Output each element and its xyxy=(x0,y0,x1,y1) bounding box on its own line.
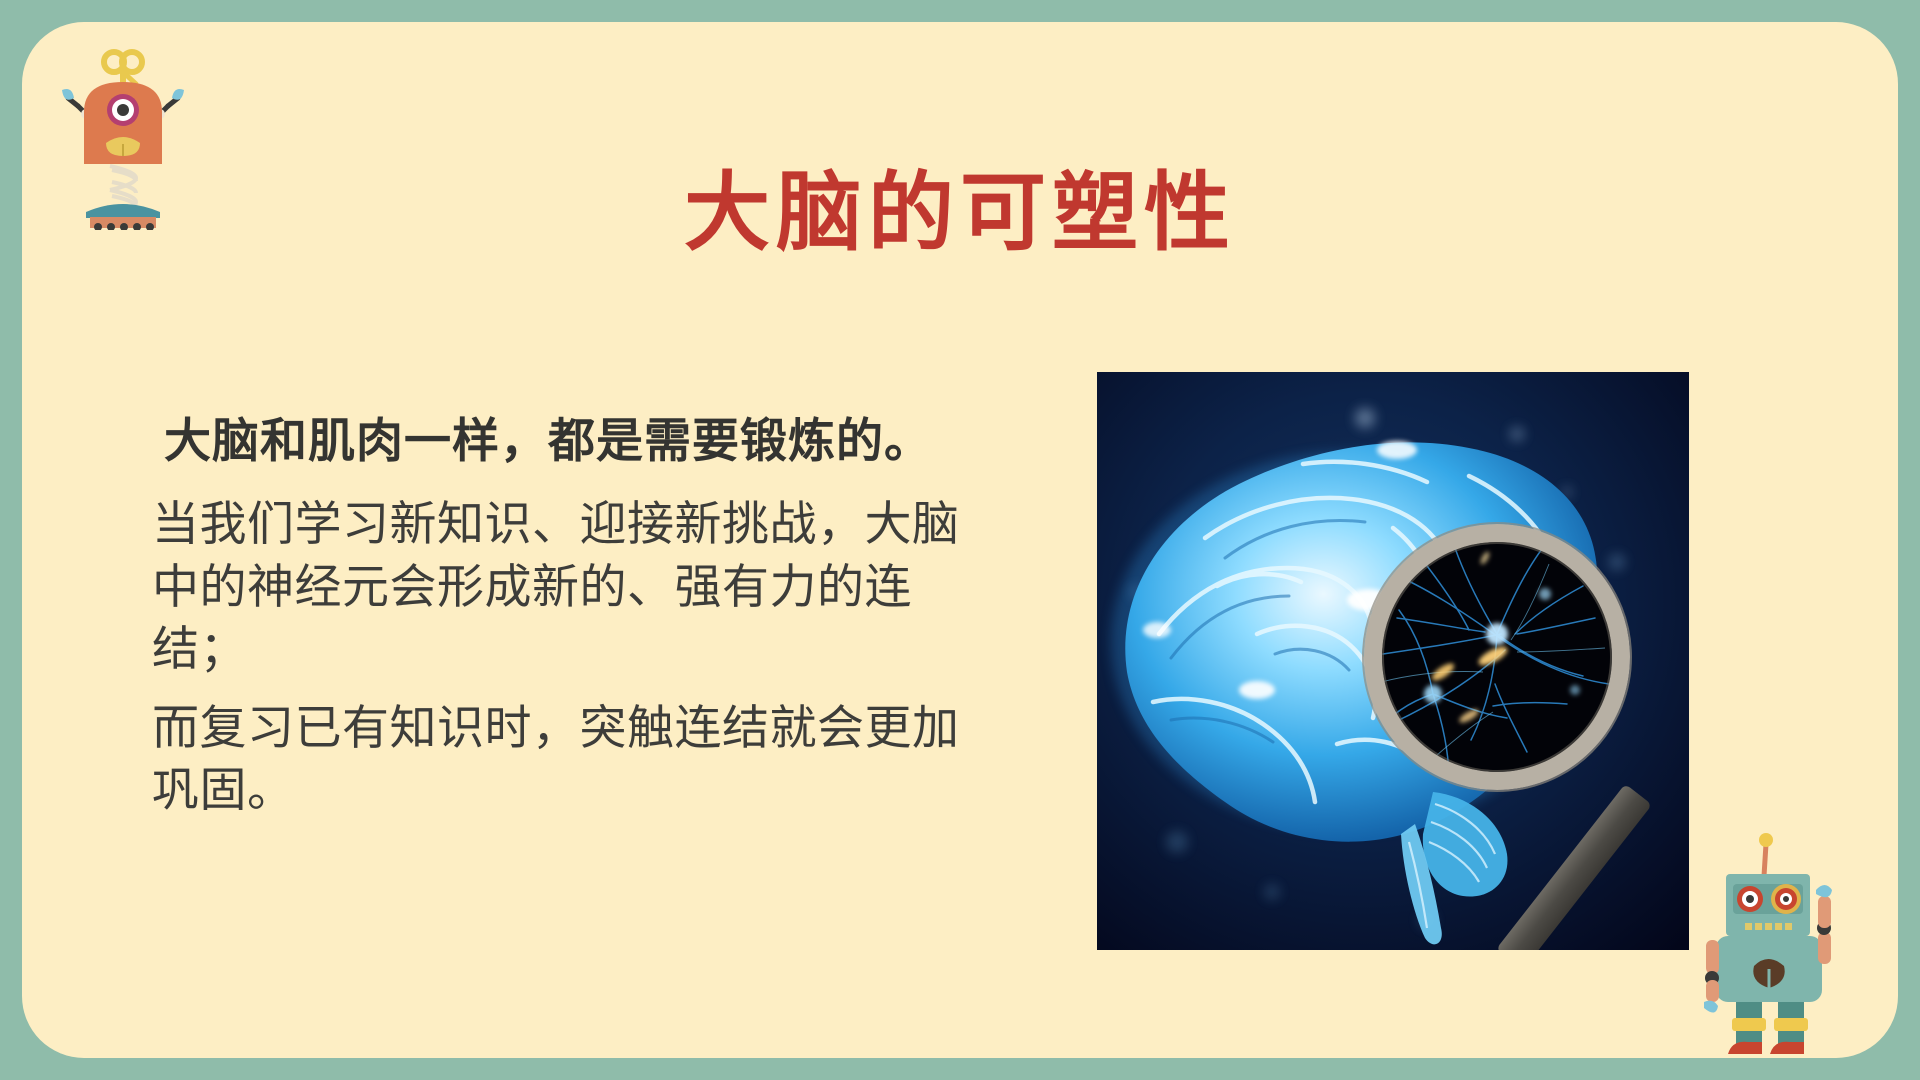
robot-arm-left xyxy=(1704,940,1719,1013)
robot-eye xyxy=(107,94,139,126)
robot-antenna xyxy=(1759,833,1773,876)
brain-photo xyxy=(1097,372,1689,950)
robot-decoration-bottom-right xyxy=(1702,828,1862,1058)
lead-statement: 大脑和肌肉一样，都是需要锻炼的。 xyxy=(164,410,992,471)
body-text-column: 大脑和肌肉一样，都是需要锻炼的。 当我们学习新知识、迎接新挑战，大脑中的神经元会… xyxy=(152,410,992,834)
page-title: 大脑的可塑性 xyxy=(22,170,1898,256)
body-paragraph-1: 当我们学习新知识、迎接新挑战，大脑中的神经元会形成新的、强有力的连结； xyxy=(152,493,982,681)
robot-arm-right xyxy=(1816,885,1832,964)
robot-eye-right xyxy=(1771,884,1801,914)
body-paragraph-2: 而复习已有知识时，突触连结就会更加巩固。 xyxy=(152,697,982,822)
slide-panel: 大脑的可塑性 大脑和肌肉一样，都是需要锻炼的。 当我们学习新知识、迎接新挑战，大… xyxy=(22,22,1898,1058)
robot-decoration-top-left xyxy=(48,40,198,230)
slide-canvas: 大脑的可塑性 大脑和肌肉一样，都是需要锻炼的。 当我们学习新知识、迎接新挑战，大… xyxy=(0,0,1920,1080)
robot-eye-left xyxy=(1737,886,1763,912)
